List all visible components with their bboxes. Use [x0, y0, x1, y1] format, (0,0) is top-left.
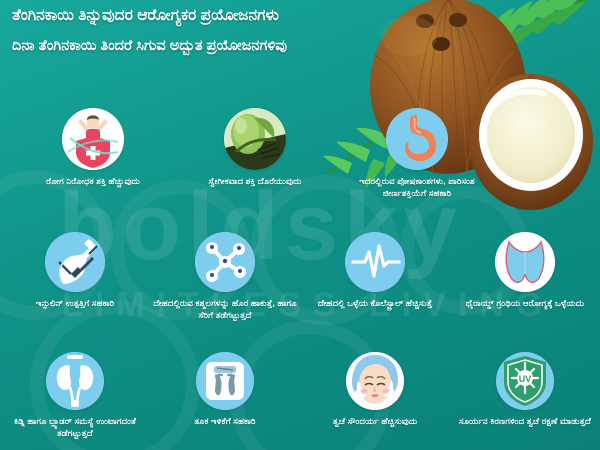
svg-text:UV: UV — [519, 374, 532, 384]
benefit-item-weight-loss[interactable]: ತೂಕ ಇಳಿಕೆಗೆ ಸಹಕಾರಿ — [150, 352, 300, 439]
thyroid-gland-icon — [495, 232, 555, 292]
benefit-item-kidney[interactable]: ಕಿಡ್ನಿ ಹಾಗೂ ಬ್ಲ್ಯಾಡರ್ ಸಮಸ್ಯೆ ಉಂಟಾಗದಂತೆ ತ… — [0, 352, 150, 439]
benefit-item-digestion[interactable]: ಇದರಲ್ಲಿರುವ ಪೋಷಕಾಂಶಗಳು, ಪಾರಿಸಂಶ ಜೀರ್ಣಶಕ್ತ… — [342, 108, 492, 199]
benefit-caption: ರೋಗ ನಿರೋಧಕ ಶಕ್ತಿ ಹೆಚ್ಚುವುದು — [46, 176, 140, 188]
benefit-item-skin-beauty[interactable]: ತ್ವಚೆ ಸೌಂದರ್ಯ ಹೆಚ್ಚಿಸುವುದು — [300, 352, 450, 439]
page-title: ತೆಂಗಿನಕಾಯಿ ತಿನ್ನುವುದರ ಆರೋಗ್ಯಕರ ಪ್ರಯೋಜನಗಳ… — [12, 6, 452, 27]
immunity-shield-icon — [62, 108, 124, 170]
title-block: ತೆಂಗಿನಕಾಯಿ ತಿನ್ನುವುದರ ಆರೋಗ್ಯಕರ ಪ್ರಯೋಜನಗಳ… — [12, 6, 452, 57]
benefit-item-thyroid[interactable]: ಥೈರಾಯ್ಡ್ ಗ್ರಂಥಿಯ ಆರೋಗ್ಯಕ್ಕೆ ಒಳ್ಳೆಯದು — [450, 232, 600, 321]
benefit-caption: ದೇಹದಲ್ಲಿ ಒಳ್ಳೆಯ ಕೊಲೆಸ್ಟ್ರಾಲ್ ಹೆಚ್ಚಿಸುತ್ತ… — [318, 298, 432, 310]
benefit-caption: ಕಿಡ್ನಿ ಹಾಗೂ ಬ್ಲ್ಯಾಡರ್ ಸಮಸ್ಯೆ ಉಂಟಾಗದಂತೆ ತ… — [2, 416, 148, 439]
molecule-icon — [195, 232, 255, 292]
benefit-item-insulin[interactable]: ಇನ್ಸುಲಿನ್ ಉತ್ಪತ್ತಿಗೆ ಸಹಕಾರಿ — [0, 232, 150, 321]
benefit-row-3: ಕಿಡ್ನಿ ಹಾಗೂ ಬ್ಲ್ಯಾಡರ್ ಸಮಸ್ಯೆ ಉಂಟಾಗದಂತೆ ತ… — [0, 352, 600, 439]
benefit-row-1: ರೋಗ ನಿರೋಧಕ ಶಕ್ತಿ ಹೆಚ್ಚುವುದು ಸ್ವೇಗೀಕವಾದ ಶ… — [0, 108, 600, 199]
benefit-item-immunity[interactable]: ರೋಗ ನಿರೋಧಕ ಶಕ್ತಿ ಹೆಚ್ಚುವುದು — [18, 108, 168, 199]
syringe-icon — [45, 232, 105, 292]
benefit-caption: ಸೂರ್ಯನ ಕಿರಣಗಳಿಂದ ತ್ವಚೆ ರಕ್ಷಣೆ ಮಾಡುತ್ತದೆ — [459, 416, 591, 428]
benefit-caption: ತ್ವಚೆ ಸೌಂದರ್ಯ ಹೆಚ್ಚಿಸುವುದು — [333, 416, 418, 428]
coconut-sprout-icon — [224, 108, 286, 170]
stomach-icon — [386, 108, 448, 170]
kidneys-icon — [46, 352, 104, 410]
benefit-caption: ಇನ್ಸುಲಿನ್ ಉತ್ಪತ್ತಿಗೆ ಸಹಕಾರಿ — [36, 298, 115, 310]
heart-pulse-icon — [345, 232, 405, 292]
woman-face-icon — [346, 352, 404, 410]
benefit-caption: ಥೈರಾಯ್ಡ್ ಗ್ರಂಥಿಯ ಆರೋಗ್ಯಕ್ಕೆ ಒಳ್ಳೆಯದು — [466, 298, 585, 310]
uv-shield-icon: UV — [496, 352, 554, 410]
benefit-item-cholesterol[interactable]: ದೇಹದಲ್ಲಿ ಒಳ್ಳೆಯ ಕೊಲೆಸ್ಟ್ರಾಲ್ ಹೆಚ್ಚಿಸುತ್ತ… — [300, 232, 450, 321]
benefit-item-natural-energy[interactable]: ಸ್ವೇಗೀಕವಾದ ಶಕ್ತಿ ದೊರೆಯುವುದು — [180, 108, 330, 199]
page-subtitle: ದಿನಾ ತೆಂಗಿನಕಾಯಿ ತಿಂದರೆ ಸಿಗುವ ಅದ್ಬುತ ಪ್ರಯ… — [12, 36, 312, 57]
benefit-row-2: ಇನ್ಸುಲಿನ್ ಉತ್ಪತ್ತಿಗೆ ಸಹಕಾರಿ — [0, 232, 600, 321]
benefit-caption: ಸ್ವೇಗೀಕವಾದ ಶಕ್ತಿ ದೊರೆಯುವುದು — [209, 176, 302, 188]
infographic-poster: boldsky LIMITLESS LIVING — [0, 0, 600, 450]
benefit-item-detox[interactable]: ದೇಹದಲ್ಲಿರುವ ಕಶ್ಮಲಗಳನ್ನು ಹೊರ ಹಾಕುತ್ತೆ, ಹಾ… — [150, 232, 300, 321]
benefit-caption: ತೂಕ ಇಳಿಕೆಗೆ ಸಹಕಾರಿ — [194, 416, 255, 428]
benefit-item-uv-protection[interactable]: UV ಸೂರ್ಯನ ಕಿರಣಗಳಿಂದ ತ್ವಚೆ ರಕ್ಷಣೆ ಮಾಡುತ್ತ… — [450, 352, 600, 439]
benefit-caption: ಇದರಲ್ಲಿರುವ ಪೋಷಕಾಂಶಗಳು, ಪಾರಿಸಂಶ ಜೀರ್ಣಶಕ್ತ… — [344, 176, 490, 199]
weighing-scale-icon — [196, 352, 254, 410]
benefit-caption: ದೇಹದಲ್ಲಿರುವ ಕಶ್ಮಲಗಳನ್ನು ಹೊರ ಹಾಕುತ್ತೆ, ಹಾ… — [152, 298, 298, 321]
